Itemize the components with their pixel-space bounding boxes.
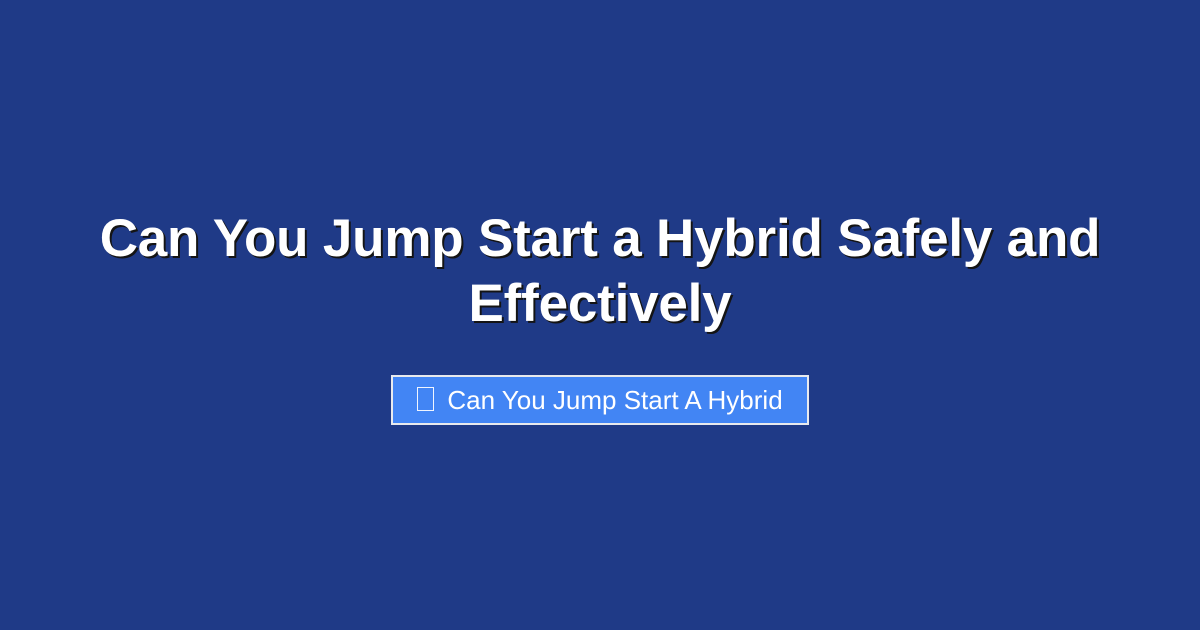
page-title: Can You Jump Start a Hybrid Safely and E… [0,206,1200,336]
cta-container: Can You Jump Start A Hybrid [391,375,808,425]
cta-button[interactable]: Can You Jump Start A Hybrid [391,375,808,425]
cta-button-label: Can You Jump Start A Hybrid [447,387,782,413]
og-image-canvas: Can You Jump Start a Hybrid Safely and E… [0,0,1200,630]
missing-glyph-box-icon [417,387,434,411]
